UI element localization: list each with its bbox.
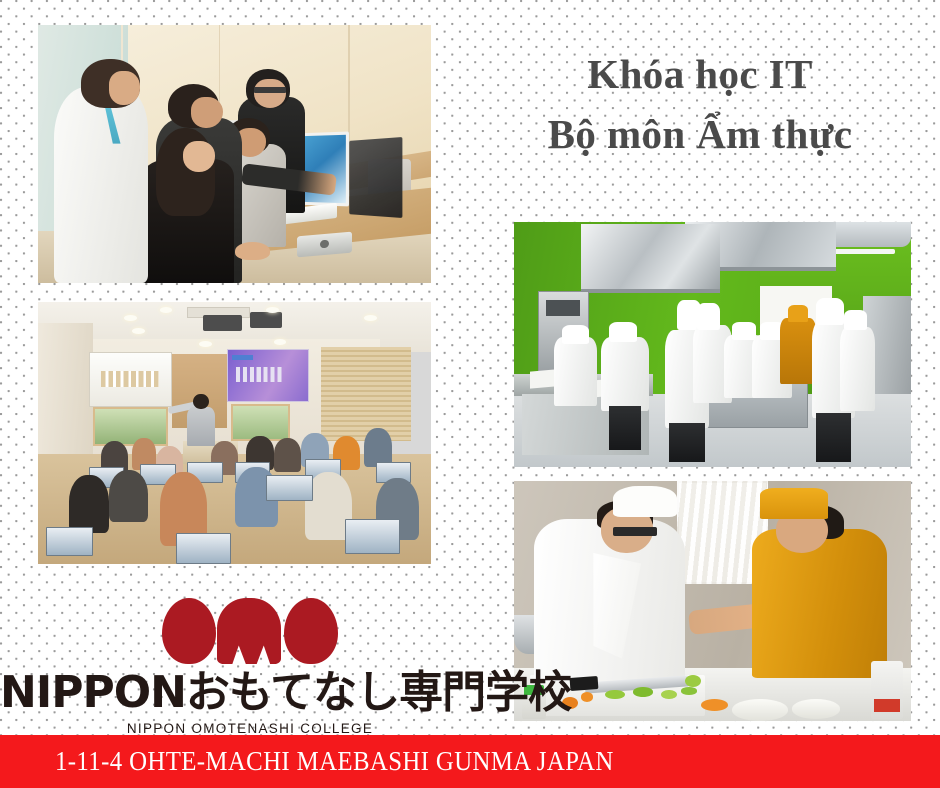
kitchen-knife-handle xyxy=(569,676,598,691)
student-standing-back-face xyxy=(254,79,285,107)
chef-hat xyxy=(732,322,756,339)
projector-left xyxy=(203,315,242,331)
omo-letter-o-right xyxy=(284,598,338,664)
chef-hat xyxy=(562,325,590,345)
projection-screen-left xyxy=(89,352,172,407)
kitchen-scene xyxy=(514,222,911,467)
green-vegetable xyxy=(633,687,653,697)
title-line-1: Khóa học IT xyxy=(466,44,934,104)
omo-letter-m xyxy=(217,598,281,664)
laptop xyxy=(46,527,93,556)
photo-knife-lesson xyxy=(514,481,911,721)
chef-student xyxy=(840,327,876,410)
omo-logo-mark xyxy=(162,596,338,664)
address-banner: 1-11-4 OHTE-MACHI MAEBASHI GUNMA JAPAN xyxy=(0,735,940,788)
chef-trousers xyxy=(816,413,852,462)
monitor-dark xyxy=(349,136,402,217)
knife-lesson-scene xyxy=(514,481,911,721)
fluorescent-tube xyxy=(832,249,896,254)
photo-it-lab xyxy=(38,25,431,283)
seated-student xyxy=(69,475,108,533)
spray-bottle xyxy=(871,661,903,719)
standing-student-shirt xyxy=(54,87,148,283)
photo-culinary-kitchen xyxy=(514,222,911,467)
chef-student xyxy=(554,337,598,406)
instructor-cap xyxy=(788,305,808,322)
address-text: 1-11-4 OHTE-MACHI MAEBASHI GUNMA JAPAN xyxy=(55,746,614,777)
chef-hat xyxy=(609,322,637,342)
window-left xyxy=(93,407,168,446)
projection-screen-right xyxy=(227,349,310,401)
instructor-orange-cap xyxy=(760,488,827,519)
college-name-jp: NIPPONおもてなし専門学校 xyxy=(0,668,500,718)
chef-toque xyxy=(816,298,844,325)
hand-on-mouse xyxy=(235,242,270,260)
chef-trousers xyxy=(669,423,705,462)
title-line-2: Bộ môn Ẩm thực xyxy=(466,104,934,164)
laptop xyxy=(176,533,231,564)
instructor-orange xyxy=(780,318,816,384)
eyeglasses-icon xyxy=(613,527,657,537)
plate xyxy=(792,699,840,718)
poster-root: Khóa học IT Bộ môn Ẩm thực xyxy=(0,0,940,788)
chef-hat xyxy=(844,310,868,330)
seated-student xyxy=(109,470,148,522)
window-blinds xyxy=(321,347,411,441)
chef-student xyxy=(601,337,649,411)
page-title: Khóa học IT Bộ môn Ẩm thực xyxy=(466,44,934,164)
plate xyxy=(732,699,788,721)
ceiling-light xyxy=(274,339,287,345)
ceiling-light xyxy=(266,307,279,313)
standing-student-face xyxy=(109,71,140,105)
chef-trousers xyxy=(609,406,641,450)
omo-letter-o-left xyxy=(162,598,216,664)
laptop xyxy=(266,475,313,501)
lecture-hall-scene xyxy=(38,302,431,564)
ceiling-light xyxy=(364,315,377,321)
eyeglasses-icon xyxy=(254,87,285,93)
it-lab-scene xyxy=(38,25,431,283)
extractor-hood-left xyxy=(581,224,720,293)
teacher xyxy=(187,407,215,446)
seated-student xyxy=(274,438,302,472)
projector-right xyxy=(250,312,281,328)
student-seated-front-face xyxy=(183,141,214,172)
chef-toque xyxy=(697,303,721,330)
college-logo: NIPPONおもてなし専門学校 NIPPON OMOTENASHI COLLEG… xyxy=(0,596,500,736)
photo-lecture-hall xyxy=(38,302,431,564)
instructor-orange-uniform xyxy=(752,529,887,678)
college-name-en: NIPPON OMOTENASHI COLLEGE xyxy=(0,721,500,736)
laptop xyxy=(345,519,400,553)
green-vegetable xyxy=(681,687,697,694)
student-chef-hat xyxy=(613,486,677,517)
